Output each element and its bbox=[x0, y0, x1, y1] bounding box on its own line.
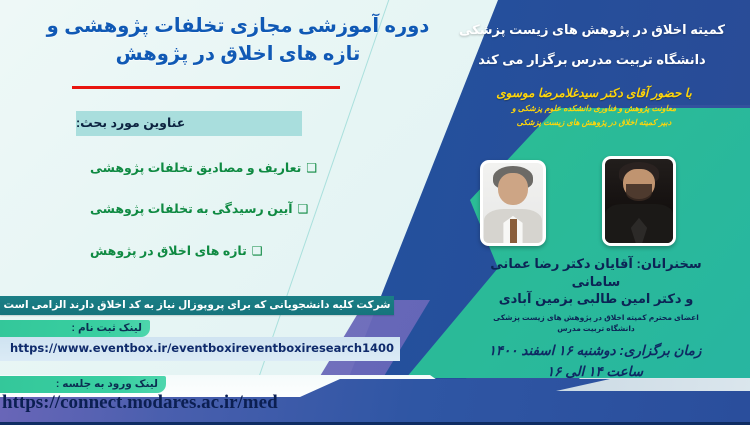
page-title: دوره آموزشی مجازی تخلفات پژوهشی و تازه ه… bbox=[38, 12, 438, 69]
requirement-notice-banner: شرکت کلیه دانشجویانی که برای پروپوزال نی… bbox=[0, 296, 394, 315]
list-item-label: تعاریف و مصادیق تخلفات پژوهشی bbox=[90, 161, 301, 175]
speakers-affiliation-1: اعضای محترم کمیته اخلاق در پژوهش های زیس… bbox=[446, 313, 746, 322]
speaker-photo-2-image bbox=[605, 159, 673, 243]
checkbox-icon: ❑ bbox=[252, 244, 263, 258]
guest-of-honor-title-1: معاونت پژوهش و فناوری دانشکده علوم پزشکی… bbox=[444, 104, 744, 113]
organizer-line-1: کمیته اخلاق در پژوهش های زیست پزشکی bbox=[442, 22, 742, 38]
guest-of-honor-title-2: دبیر کمیته اخلاق در پژوهش های زیست پزشکی bbox=[444, 118, 744, 127]
speakers-line-3: و دکتر امین طالبی بزمین آبادی bbox=[446, 291, 746, 307]
list-item-label: تازه های اخلاق در پژوهش bbox=[90, 244, 247, 258]
speakers-affiliation-2: دانشگاه تربیت مدرس bbox=[446, 324, 746, 333]
guest-of-honor-name: با حضور آقای دکتر سیدغلامرضا موسوی bbox=[444, 86, 744, 100]
webinar-poster: دوره آموزشی مجازی تخلفات پژوهشی و تازه ه… bbox=[0, 0, 750, 425]
event-time: ساعت ۱۴ الی ۱۶ bbox=[440, 364, 750, 380]
speaker-photo-1 bbox=[480, 160, 546, 246]
speakers-line-1: سخنرانان: آقایان دکتر رضا عمانی bbox=[446, 256, 746, 272]
topics-heading: عناوین مورد بحث: bbox=[76, 111, 302, 136]
event-date: زمان برگزاری: دوشنبه ۱۶ اسفند ۱۴۰۰ bbox=[440, 343, 750, 359]
speaker-photo-2 bbox=[602, 156, 676, 246]
registration-url-link[interactable]: https://www.eventbox.ir/eventboxireventb… bbox=[10, 341, 394, 355]
list-item-label: آیین رسیدگی به تخلفات پژوهشی bbox=[90, 202, 293, 216]
left-column: دوره آموزشی مجازی تخلفات پژوهشی و تازه ه… bbox=[0, 0, 452, 425]
organizer-line-2: دانشگاه تربیت مدرس برگزار می کند bbox=[442, 52, 742, 68]
page-title-line-2: تازه های اخلاق در پژوهش bbox=[38, 40, 438, 68]
list-item: ❑تعاریف و مصادیق تخلفات پژوهشی bbox=[90, 160, 318, 175]
right-column: کمیته اخلاق در پژوهش های زیست پزشکی دانش… bbox=[430, 0, 750, 425]
join-url-link[interactable]: https://connect.modares.ac.ir/med bbox=[2, 392, 278, 414]
list-item: ❑آیین رسیدگی به تخلفات پژوهشی bbox=[90, 201, 318, 216]
speakers-line-2: سامانی bbox=[446, 274, 746, 290]
red-divider bbox=[72, 86, 340, 89]
page-title-line-1: دوره آموزشی مجازی تخلفات پژوهشی و bbox=[38, 12, 438, 40]
list-item: ❑تازه های اخلاق در پژوهش bbox=[90, 243, 318, 258]
checkbox-icon: ❑ bbox=[306, 161, 317, 175]
speaker-photo-1-image bbox=[483, 163, 543, 243]
checkbox-icon: ❑ bbox=[298, 202, 309, 216]
registration-link-label: لینک ثبت نام : bbox=[0, 320, 150, 337]
join-link-label: لینک ورود به جلسه : bbox=[0, 376, 166, 393]
